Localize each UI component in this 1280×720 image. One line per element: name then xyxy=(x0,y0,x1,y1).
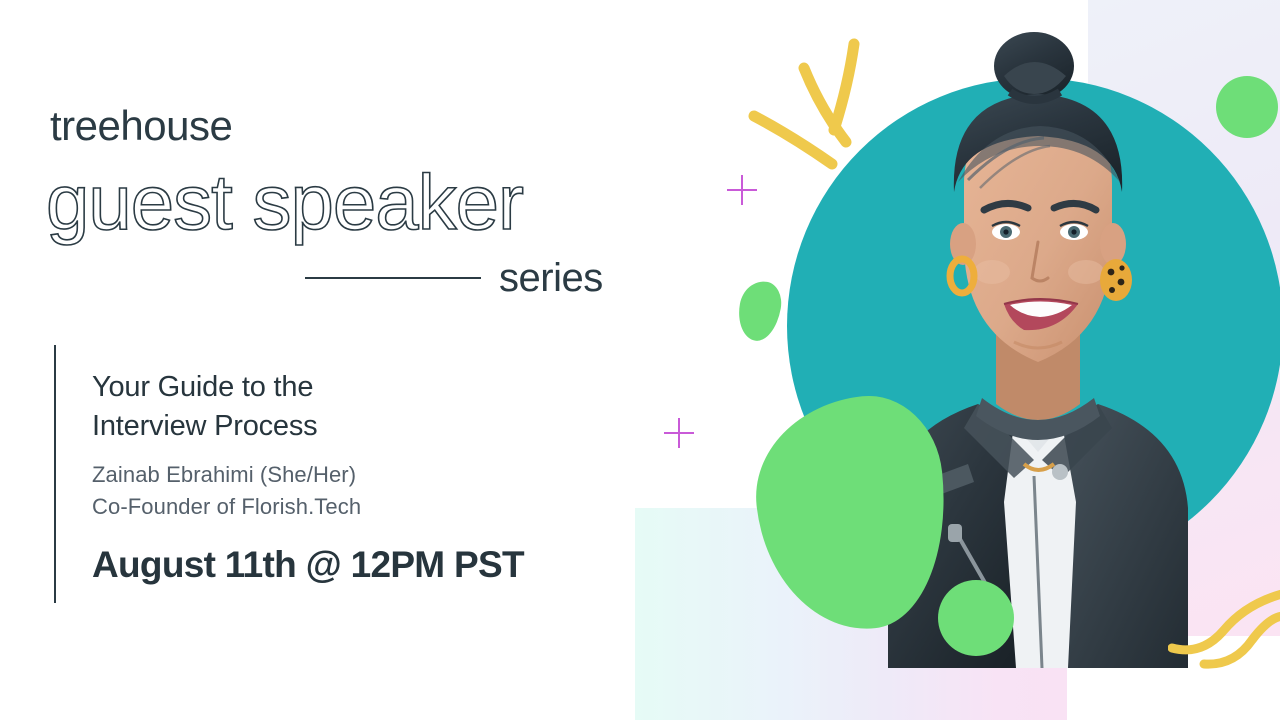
series-row: series xyxy=(305,252,625,304)
green-circle-bottom-icon xyxy=(938,580,1014,656)
speaker-name: Zainab Ebrahimi (She/Her) xyxy=(92,459,612,491)
series-divider-rule xyxy=(305,277,481,279)
event-datetime: August 11th @ 12PM PST xyxy=(92,545,612,586)
yellow-waves-icon xyxy=(1168,588,1280,670)
green-blob-small-icon xyxy=(734,278,785,344)
brand-wordmark: treehouse xyxy=(50,105,232,147)
yellow-dashes-icon xyxy=(748,38,888,178)
event-detail-block: Your Guide to the Interview Process Zain… xyxy=(92,368,612,586)
text-column: treehouse guest speaker series Your Guid… xyxy=(0,0,660,720)
promo-graphic: treehouse guest speaker series Your Guid… xyxy=(0,0,1280,720)
series-label: series xyxy=(499,258,603,298)
detail-vertical-rule xyxy=(54,345,56,603)
headline-outline-text: guest speaker xyxy=(46,160,523,244)
plus-mark-top-icon xyxy=(727,175,757,205)
speaker-role: Co-Founder of Florish.Tech xyxy=(92,491,612,523)
talk-title: Your Guide to the Interview Process xyxy=(92,368,612,445)
plus-mark-middle-icon xyxy=(664,418,694,448)
